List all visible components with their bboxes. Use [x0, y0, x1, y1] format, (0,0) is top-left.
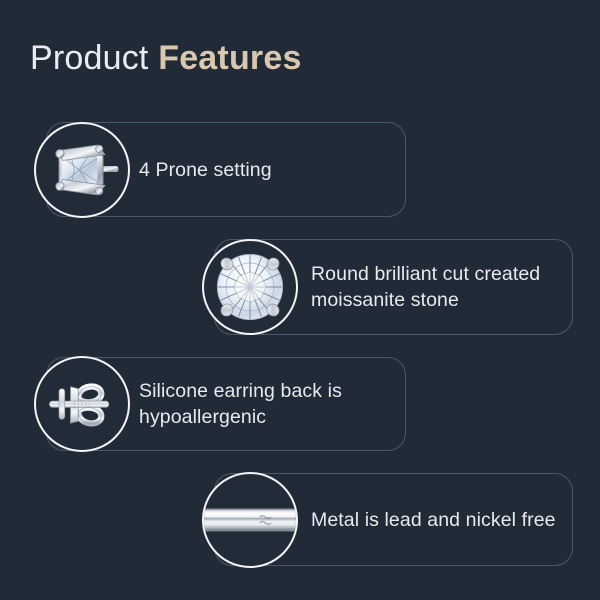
product-features-panel: Product Features 4 Prone setting — [0, 0, 600, 600]
feature-card-label: Round brilliant cut created moissanite s… — [311, 261, 561, 313]
feature-card-label: Metal is lead and nickel free — [311, 507, 561, 533]
page-title-part-1: Product — [30, 39, 158, 77]
feature-card-label: Silicone earring back is hypoallergenic — [139, 378, 389, 430]
earring-back-icon — [34, 356, 130, 452]
round-brilliant-diamond-icon — [202, 239, 298, 335]
feature-card-label: 4 Prone setting — [139, 157, 389, 183]
page-title-part-2: Features — [158, 39, 301, 77]
page-title: Product Features — [30, 38, 302, 78]
prong-setting-diamond-icon — [34, 122, 130, 218]
metal-post-icon — [202, 472, 298, 568]
